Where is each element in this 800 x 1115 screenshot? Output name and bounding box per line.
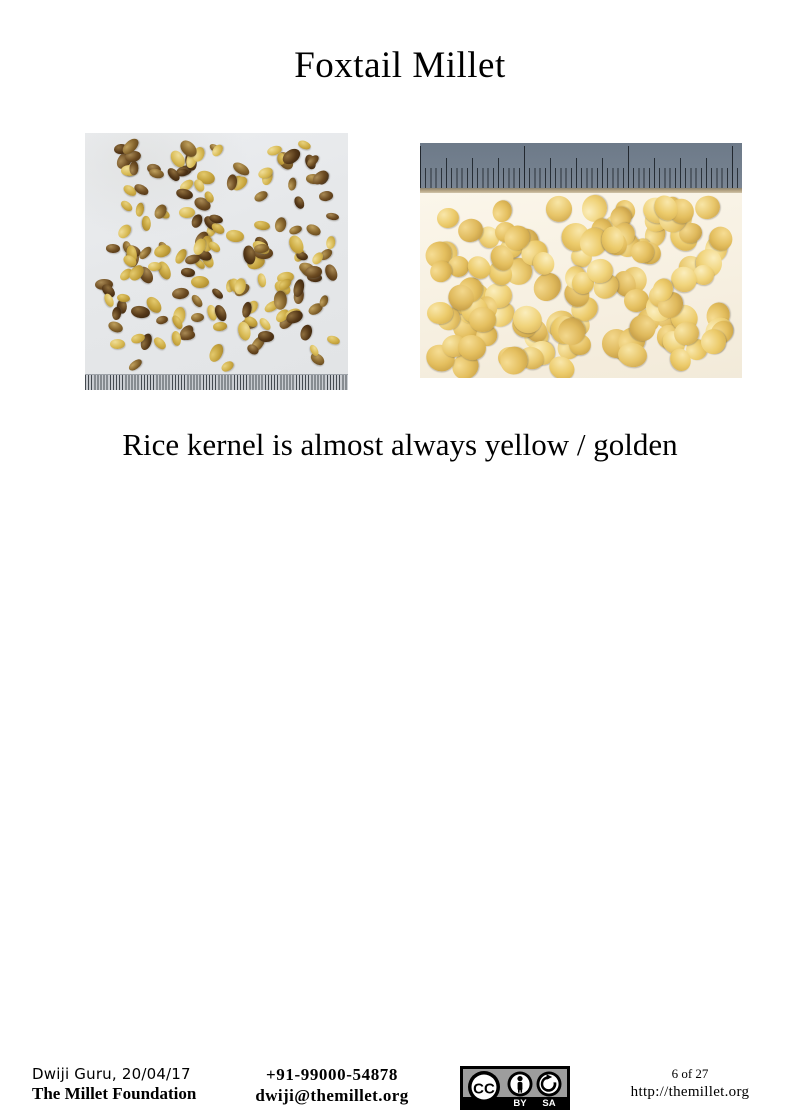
page-number: 6 of 27 — [600, 1065, 780, 1082]
millet-grain — [318, 190, 334, 202]
millet-grain — [325, 235, 336, 250]
millet-grain — [318, 294, 330, 308]
millet-grain — [323, 263, 339, 283]
millet-grain — [253, 220, 270, 232]
millet-grain — [180, 267, 195, 277]
footer-author-name: Dwiji Guru, 20/04/17 — [32, 1065, 232, 1084]
millet-grain — [190, 293, 205, 309]
cc-sa-label: SA — [542, 1098, 555, 1109]
photo-bottom-edge — [420, 378, 742, 383]
millet-grain — [137, 245, 153, 261]
rice-kernel — [541, 191, 577, 227]
footer-email[interactable]: dwiji@themillet.org — [232, 1085, 432, 1106]
millet-grain — [142, 216, 152, 231]
millet-grain — [135, 202, 145, 217]
foxtail-millet-whole-grain-photo — [85, 133, 348, 390]
millet-grain — [107, 319, 125, 335]
millet-grain — [207, 342, 226, 364]
millet-grain — [258, 331, 275, 343]
ruler-strip-top — [420, 143, 742, 190]
website-link[interactable]: http://themillet.org — [600, 1082, 780, 1102]
millet-grain — [127, 357, 144, 372]
footer-meta-block: 6 of 27 http://themillet.org — [600, 1065, 780, 1102]
millet-grain — [273, 216, 288, 234]
rice-kernel — [436, 206, 461, 230]
grain-scatter-area — [85, 133, 348, 374]
millet-grain — [325, 212, 339, 221]
millet-grain — [148, 168, 165, 181]
millet-grain — [155, 315, 169, 325]
millet-grain — [219, 359, 234, 373]
millet-grain — [292, 278, 306, 298]
millet-grain — [226, 229, 245, 243]
millet-grain — [171, 287, 189, 300]
millet-grain — [175, 188, 194, 202]
millet-grain — [292, 194, 305, 209]
millet-grain — [106, 243, 120, 252]
millet-grain — [326, 334, 340, 345]
millet-grain — [253, 189, 269, 203]
rice-kernel — [692, 192, 723, 222]
millet-grain — [119, 199, 135, 214]
millet-grain — [110, 339, 125, 349]
millet-grain — [298, 323, 313, 342]
page-title: Foxtail Millet — [0, 44, 800, 88]
rice-kernel — [491, 198, 514, 224]
millet-grain — [297, 139, 312, 151]
millet-grain — [116, 222, 134, 240]
millet-grain — [212, 321, 226, 331]
millet-grain — [287, 178, 297, 192]
svg-text:CC: CC — [473, 1081, 495, 1098]
millet-grain — [257, 316, 272, 332]
millet-grain — [190, 313, 204, 323]
cc-by-sa-icon: CC BY SA — [460, 1066, 570, 1110]
millet-grain — [304, 222, 322, 238]
footer-contact-block: +91-99000-54878 dwiji@themillet.org — [232, 1064, 432, 1106]
millet-grain — [210, 286, 224, 300]
footer-organization: The Millet Foundation — [32, 1084, 232, 1104]
millet-grain — [288, 224, 303, 236]
cc-by-sa-badge[interactable]: CC BY SA — [460, 1066, 570, 1110]
millet-grain — [256, 273, 267, 288]
footer-author-block: Dwiji Guru, 20/04/17 The Millet Foundati… — [32, 1065, 232, 1104]
millet-grain — [274, 291, 287, 310]
cc-by-label: BY — [513, 1098, 527, 1109]
foxtail-millet-rice-kernel-photo — [420, 143, 742, 383]
millet-grain — [152, 335, 168, 351]
ruler-major-ticks — [420, 146, 742, 190]
ruler-strip-bottom — [85, 374, 348, 390]
millet-grain — [129, 161, 138, 175]
slide-caption: Rice kernel is almost always yellow / go… — [60, 425, 740, 464]
kernel-scatter-area — [420, 193, 742, 383]
millet-grain — [153, 243, 173, 260]
millet-grain — [180, 329, 195, 339]
millet-grain — [310, 250, 325, 265]
footer-phone: +91-99000-54878 — [232, 1064, 432, 1085]
slide-footer: Dwiji Guru, 20/04/17 The Millet Foundati… — [0, 530, 800, 600]
millet-grain — [191, 275, 209, 288]
